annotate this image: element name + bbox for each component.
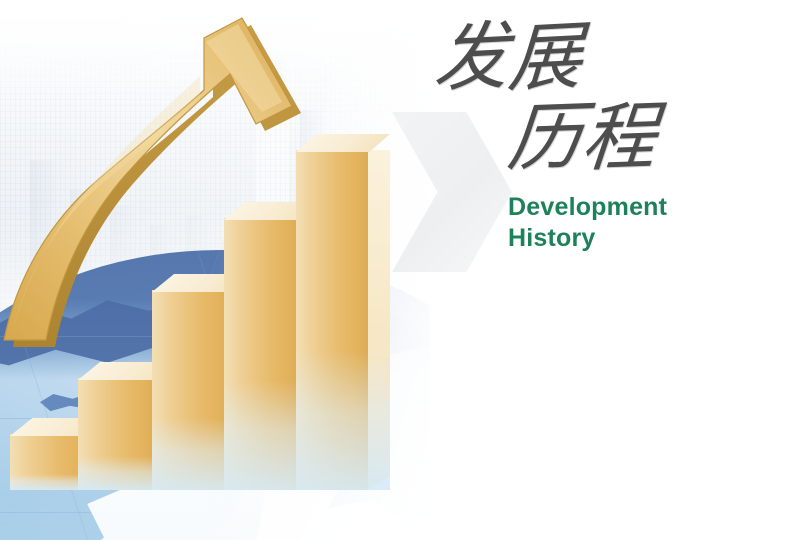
bar-base-fade [296, 350, 390, 490]
chinese-title-line-1: 发展 [434, 22, 780, 96]
headline-block: 发展 历程 Development History [430, 22, 780, 255]
chinese-title: 发展 历程 [430, 22, 780, 176]
upward-growth-arrow-icon [0, 10, 410, 350]
english-title-line-1: Development [508, 192, 780, 223]
chinese-title-line-2: 历程 [508, 102, 780, 176]
chart-bar-2 [78, 378, 156, 490]
chinese-char-zhan: 展 [506, 20, 584, 98]
english-title: Development History [508, 192, 780, 255]
chinese-char-cheng: 程 [579, 101, 660, 178]
chinese-char-fa: 发 [432, 20, 510, 98]
development-history-banner: 发展 历程 Development History [0, 0, 800, 540]
english-title-line-2: History [508, 223, 780, 254]
chinese-char-li: 历 [505, 101, 586, 178]
